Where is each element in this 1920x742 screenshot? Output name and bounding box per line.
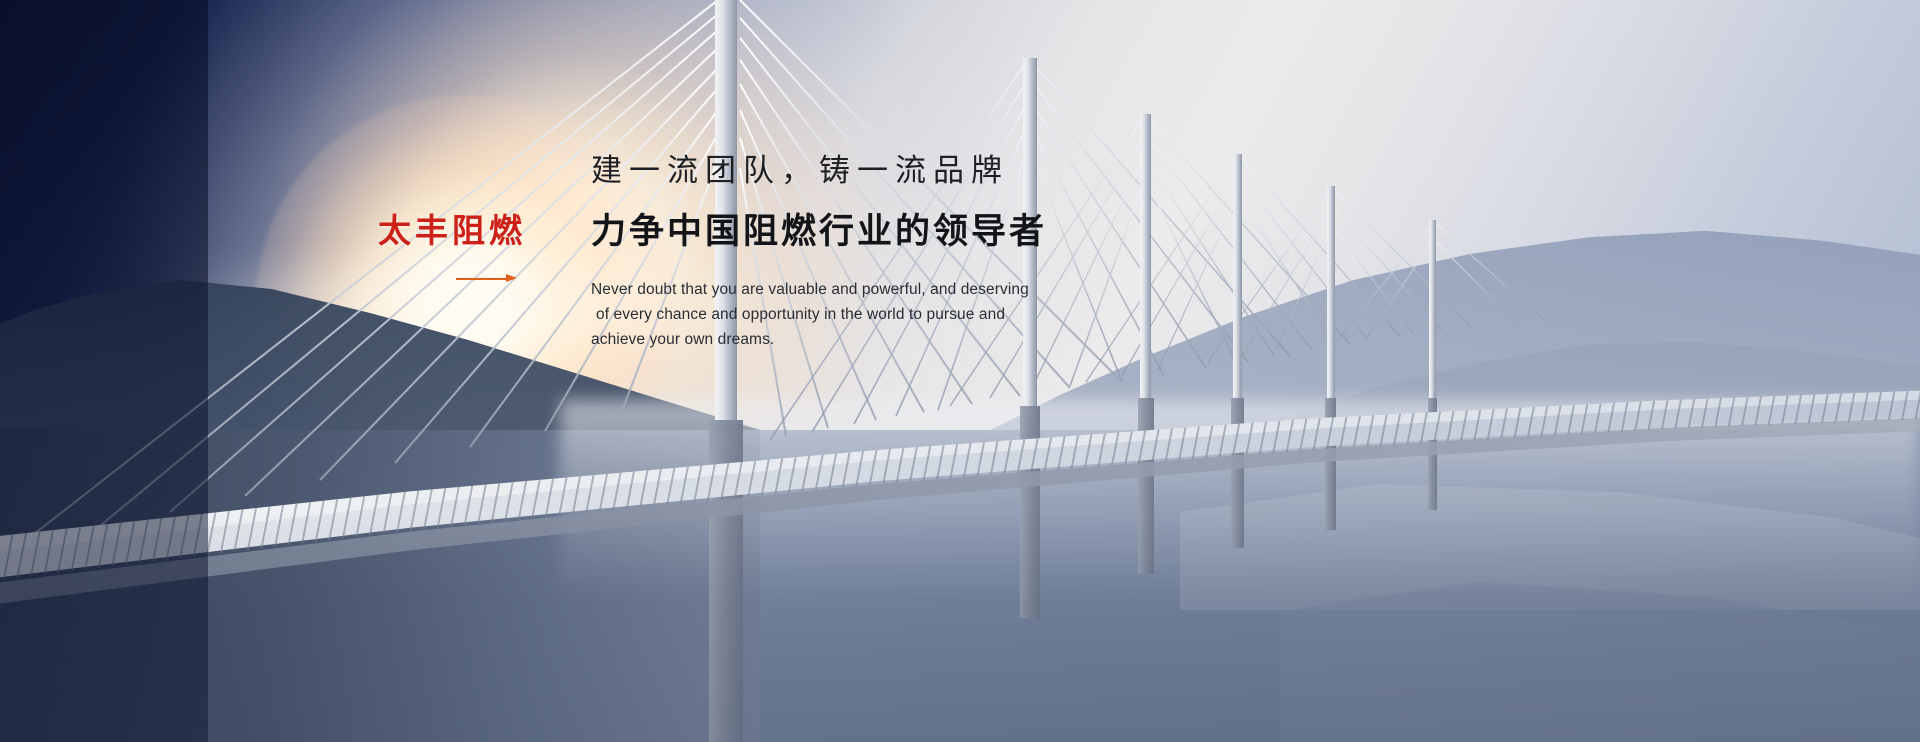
tagline-line-3: achieve your own dreams. [591,327,1061,352]
hero-banner: 太丰阻燃 建一流团队，铸一流品牌 力争中国阻燃行业的领导者 Never doub… [0,0,1920,742]
arrow-right-icon [456,273,518,283]
banner-content: 太丰阻燃 建一流团队，铸一流品牌 力争中国阻燃行业的领导者 Never doub… [0,0,1920,742]
headline-primary: 建一流团队，铸一流品牌 [591,152,1061,189]
tagline-paragraph: Never doubt that you are valuable and po… [591,277,1061,352]
tagline-line-2: of every chance and opportunity in the w… [591,302,1061,327]
tagline-line-1: Never doubt that you are valuable and po… [591,277,1061,302]
brand-logo[interactable]: 太丰阻燃 [378,214,538,283]
headline-secondary: 力争中国阻燃行业的领导者 [591,211,1061,253]
arrow-shaft [456,278,512,280]
brand-logo-text: 太丰阻燃 [378,214,538,247]
banner-text-block: 建一流团队，铸一流品牌 力争中国阻燃行业的领导者 Never doubt tha… [591,152,1061,352]
arrow-head [506,274,517,282]
